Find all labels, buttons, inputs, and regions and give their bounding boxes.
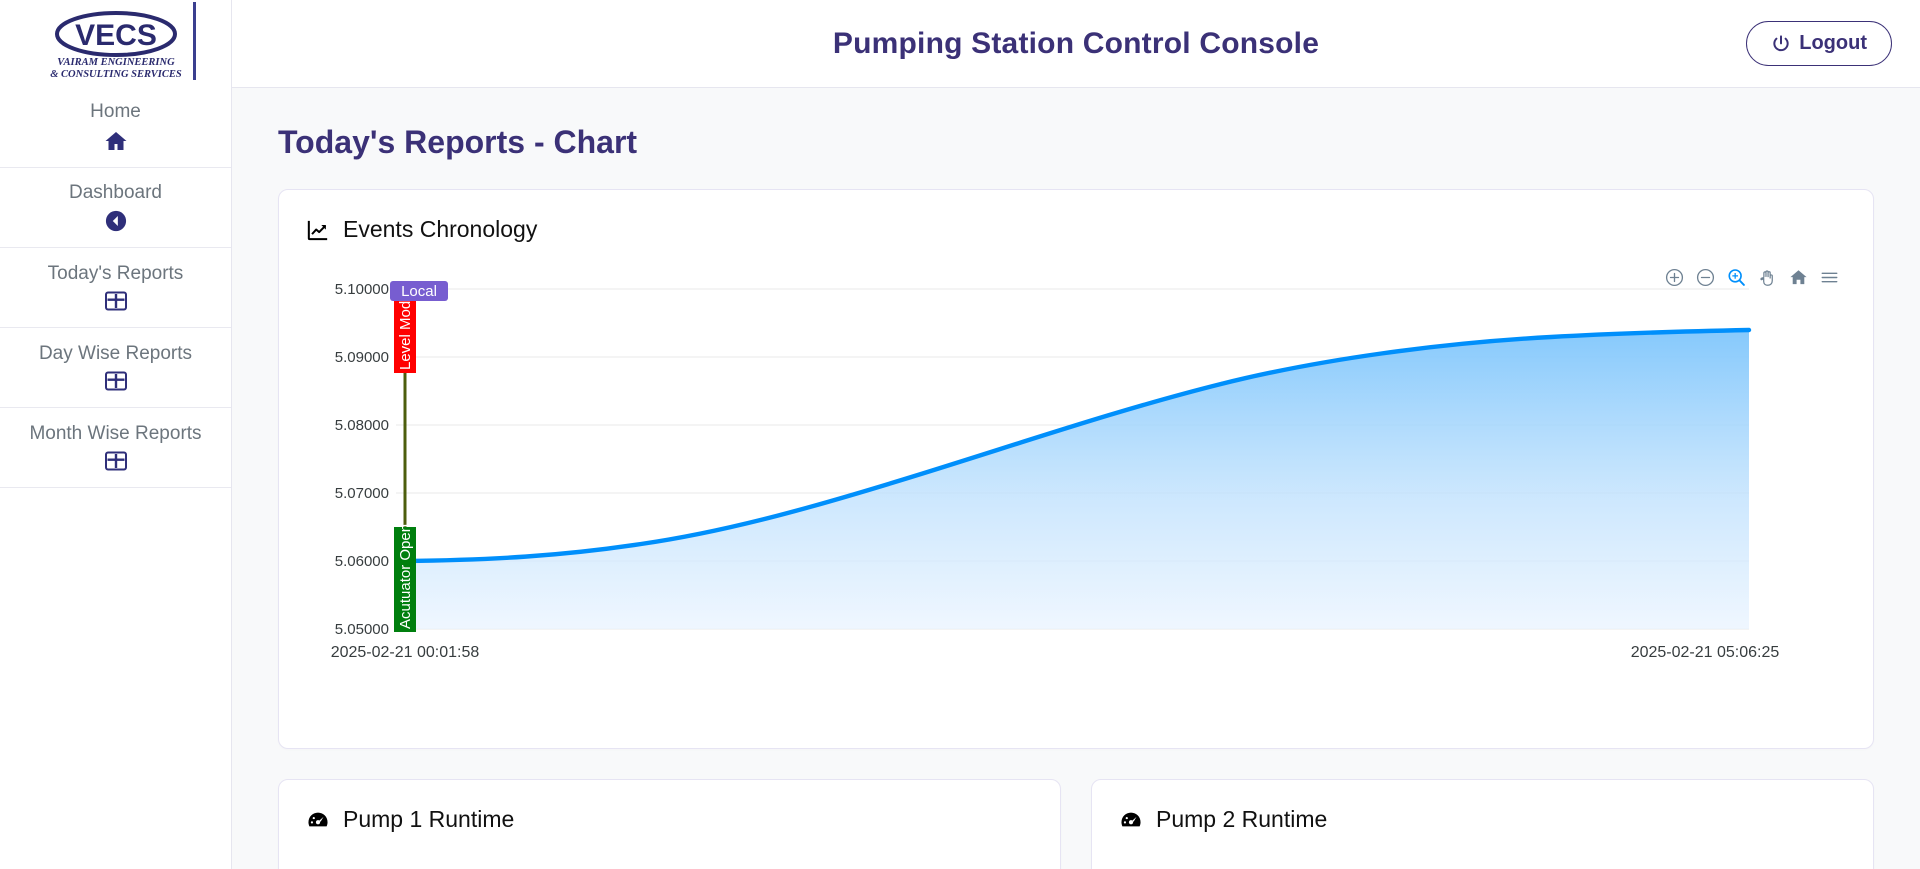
- sidebar-item-label: Day Wise Reports: [39, 344, 192, 365]
- x-axis-labels: 2025-02-21 00:01:58 2025-02-21 05:06:25: [331, 644, 1780, 661]
- chart-toolbar[interactable]: [1665, 268, 1839, 287]
- table-icon: [105, 371, 127, 391]
- app-root: VECS VAIRAM ENGINEERING & CONSULTING SER…: [0, 0, 1920, 869]
- top-header: Pumping Station Control Console Logout: [232, 0, 1920, 88]
- selection-zoom-icon[interactable]: [1727, 268, 1746, 287]
- main-column: Pumping Station Control Console Logout T…: [232, 0, 1920, 869]
- sidebar-item-home[interactable]: Home: [0, 88, 231, 168]
- zoom-in-icon[interactable]: [1665, 268, 1684, 287]
- sidebar-item-label: Month Wise Reports: [29, 424, 201, 445]
- pump-2-runtime-card: Pump 2 Runtime: [1091, 779, 1874, 869]
- sidebar-item-label: Today's Reports: [48, 264, 184, 285]
- events-chronology-chart[interactable]: 5.10000 5.09000 5.08000 5.07000 5.06000 …: [301, 279, 1846, 709]
- vecs-logo-icon: VECS VAIRAM ENGINEERING & CONSULTING SER…: [42, 8, 190, 80]
- logo-subtitle-1: VAIRAM ENGINEERING: [57, 57, 175, 68]
- pump-1-runtime-title: Pump 1 Runtime: [343, 806, 514, 833]
- sidebar-item-todays-reports[interactable]: Today's Reports: [0, 248, 231, 328]
- y-tick-label: 5.07000: [335, 485, 389, 502]
- chart-series-level: [405, 330, 1749, 629]
- y-tick-label: 5.08000: [335, 417, 389, 434]
- gauge-icon: [1120, 809, 1142, 831]
- brand-logo[interactable]: VECS VAIRAM ENGINEERING & CONSULTING SER…: [0, 0, 231, 88]
- pump-2-runtime-header: Pump 2 Runtime: [1092, 780, 1873, 833]
- power-icon: [1771, 34, 1791, 54]
- x-tick-label: 2025-02-21 00:01:58: [331, 644, 480, 661]
- table-icon: [105, 291, 127, 311]
- zoom-out-icon[interactable]: [1696, 268, 1715, 287]
- x-tick-label: 2025-02-21 05:06:25: [1631, 644, 1780, 661]
- sidebar: VECS VAIRAM ENGINEERING & CONSULTING SER…: [0, 0, 232, 869]
- chart-plot-area[interactable]: 5.10000 5.09000 5.08000 5.07000 5.06000 …: [279, 243, 1873, 713]
- logout-label: Logout: [1799, 32, 1867, 55]
- sidebar-item-day-wise-reports[interactable]: Day Wise Reports: [0, 328, 231, 408]
- chart-card-title: Events Chronology: [343, 216, 537, 243]
- y-tick-label: 5.05000: [335, 621, 389, 638]
- y-tick-label: 5.06000: [335, 553, 389, 570]
- back-circle-icon: [105, 210, 127, 232]
- app-title: Pumping Station Control Console: [232, 27, 1920, 61]
- gauge-icon: [307, 809, 329, 831]
- pump-1-runtime-header: Pump 1 Runtime: [279, 780, 1060, 833]
- chart-card-header: Events Chronology: [279, 190, 1873, 243]
- runtime-cards-row: Pump 1 Runtime Pump 2 Runtime: [278, 779, 1874, 869]
- menu-icon[interactable]: [1820, 268, 1839, 287]
- page-title: Today's Reports - Chart: [278, 124, 1874, 161]
- logo-divider-bar: [193, 2, 196, 80]
- y-tick-label: 5.10000: [335, 281, 389, 298]
- pump-1-runtime-card: Pump 1 Runtime: [278, 779, 1061, 869]
- pump-2-runtime-title: Pump 2 Runtime: [1156, 806, 1327, 833]
- home-icon: [104, 129, 128, 153]
- pan-icon[interactable]: [1758, 268, 1777, 287]
- logout-button[interactable]: Logout: [1746, 21, 1892, 66]
- series-area-fill: [405, 330, 1749, 629]
- sidebar-item-label: Dashboard: [69, 183, 162, 204]
- content-area: Today's Reports - Chart Events Chronolog…: [232, 88, 1920, 869]
- sidebar-item-dashboard[interactable]: Dashboard: [0, 168, 231, 248]
- annotation-level-mode-label: Level Mode: [397, 292, 414, 370]
- annotation-local-label: Local: [401, 283, 437, 300]
- events-chronology-card: Events Chronology: [278, 189, 1874, 749]
- svg-text:VECS: VECS: [75, 19, 157, 52]
- logo-subtitle-2: & CONSULTING SERVICES: [50, 69, 182, 80]
- annotation-actuator-open-label: Acutuator Open: [397, 524, 414, 629]
- sidebar-item-label: Home: [90, 102, 141, 123]
- table-icon: [105, 451, 127, 471]
- line-chart-icon: [307, 219, 329, 241]
- y-axis-labels: 5.10000 5.09000 5.08000 5.07000 5.06000 …: [335, 281, 389, 638]
- reset-home-icon[interactable]: [1789, 268, 1808, 287]
- sidebar-item-month-wise-reports[interactable]: Month Wise Reports: [0, 408, 231, 488]
- y-tick-label: 5.09000: [335, 349, 389, 366]
